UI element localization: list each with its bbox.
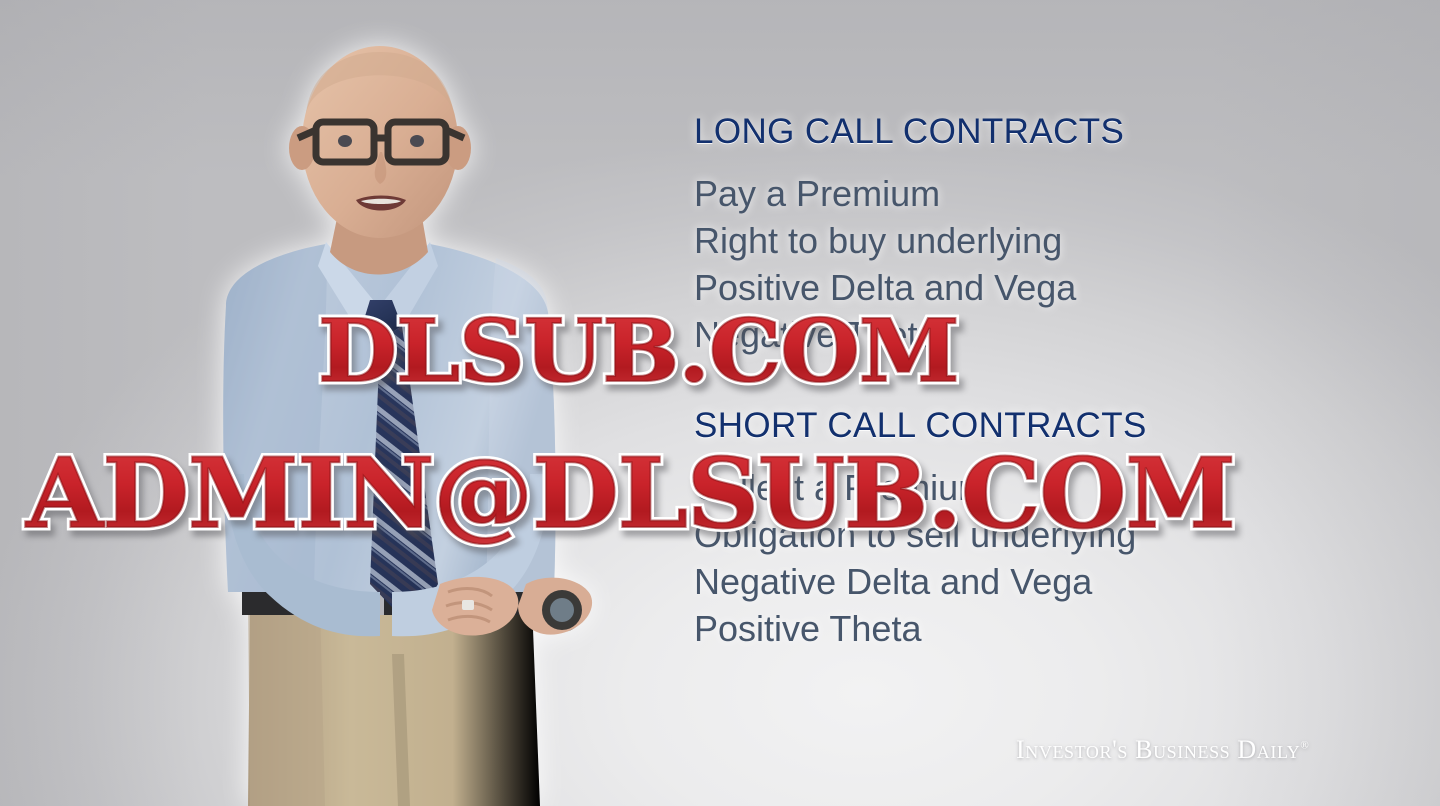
presenter-figure xyxy=(130,44,650,806)
watermark-dlsub-domain: DLSUB.COM DLSUB.COM DLSUB.COM xyxy=(318,301,959,402)
bullet-item: Negative Delta and Vega xyxy=(694,558,1294,605)
watermark-text-outline: ADMIN@DLSUB.COM xyxy=(26,437,1235,550)
video-frame: LONG CALL CONTRACTS Pay a Premium Right … xyxy=(0,0,1440,806)
logo-text: Investor's Business Daily xyxy=(1016,735,1300,764)
watermark-text-outline: DLSUB.COM xyxy=(318,301,959,402)
section-title-long-call: LONG CALL CONTRACTS xyxy=(694,112,1294,152)
bullet-item: Pay a Premium xyxy=(694,170,1294,217)
trademark-symbol: ® xyxy=(1300,739,1309,751)
watermark-dlsub-email: ADMIN@DLSUB.COM ADMIN@DLSUB.COM ADMIN@DL… xyxy=(26,437,1235,550)
investors-business-daily-logo: Investor's Business Daily® xyxy=(1016,735,1309,765)
bullet-item: Right to buy underlying xyxy=(694,217,1294,264)
bullet-item: Positive Theta xyxy=(694,605,1294,652)
